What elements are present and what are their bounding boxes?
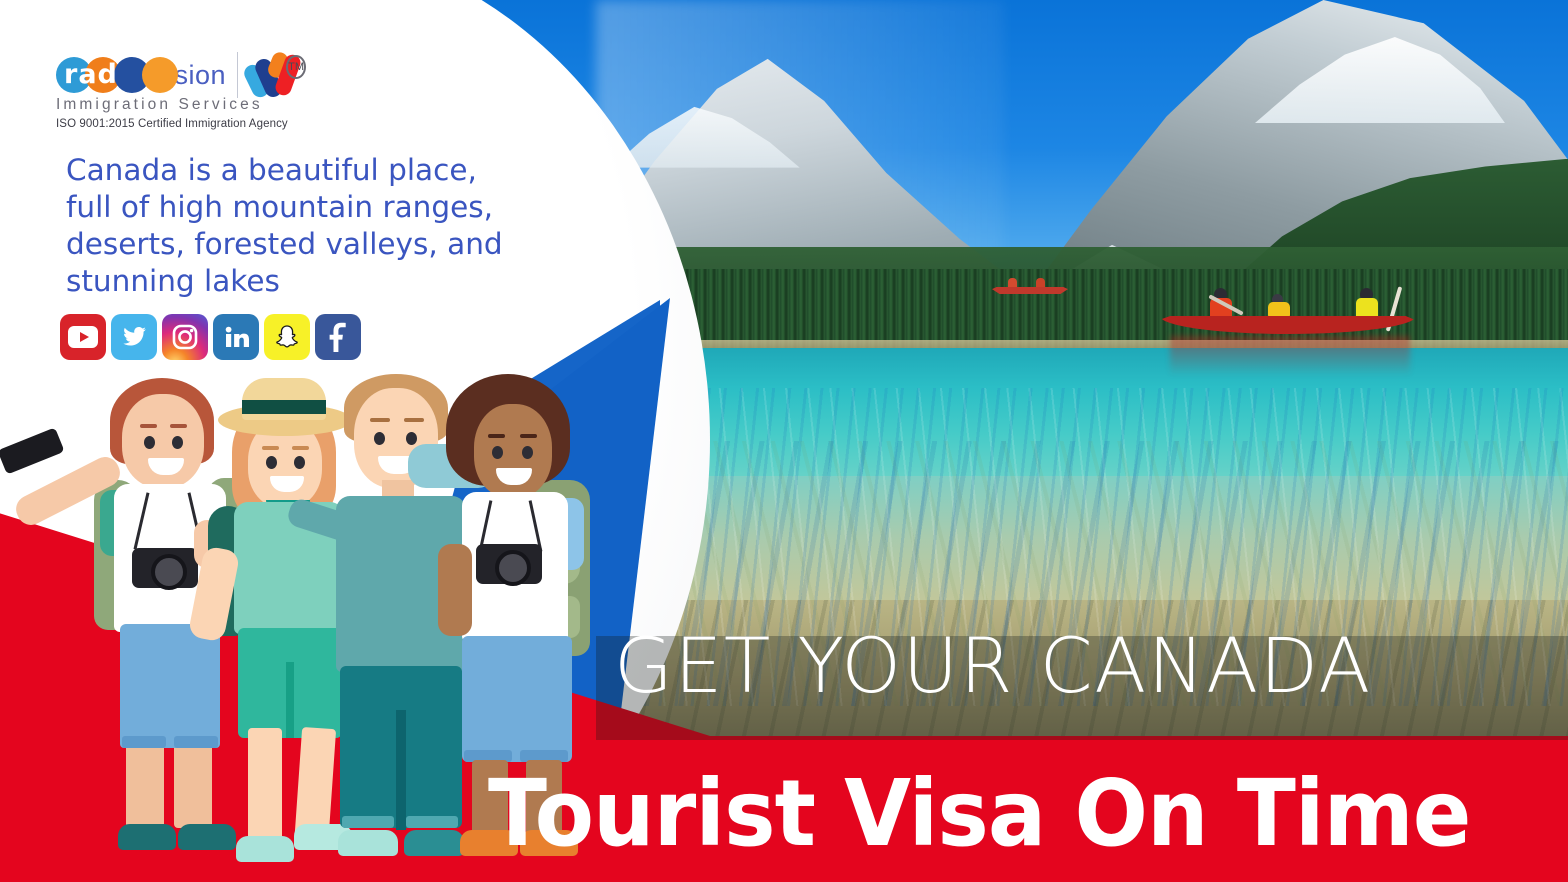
- logo-services-text: Immigration Services: [56, 96, 263, 114]
- logo-rad-text: rad: [64, 62, 118, 88]
- youtube-icon[interactable]: [60, 314, 106, 360]
- paddler-child: [1268, 294, 1290, 316]
- phone-icon: [0, 427, 65, 474]
- headline-text: Tourist Visa On Time: [488, 762, 1513, 866]
- snapchat-icon[interactable]: [264, 314, 310, 360]
- instagram-icon[interactable]: [162, 314, 208, 360]
- camera-icon: [476, 544, 542, 584]
- kicker-container: GET YOUR CANADA: [614, 624, 1568, 708]
- logo-divider: [237, 52, 238, 98]
- headline-container: Tourist Visa On Time: [488, 762, 1568, 866]
- canoe-distant: [992, 280, 1068, 294]
- iso-certification-text: ISO 9001:2015 Certified Immigration Agen…: [56, 118, 306, 130]
- facebook-icon[interactable]: [315, 314, 361, 360]
- twitter-icon[interactable]: [111, 314, 157, 360]
- social-links: [60, 314, 361, 360]
- canoe-hull: [1160, 316, 1416, 334]
- promo-banner: rad vision TM Immigration Services ISO 9…: [0, 0, 1568, 882]
- canoe-red: [1160, 300, 1416, 334]
- tagline-line-1: Canada is a beautiful place,: [66, 152, 536, 189]
- tagline-line-3: deserts, forested valleys, and: [66, 226, 536, 263]
- kicker-text: GET YOUR CANADA: [614, 624, 1568, 708]
- canoe-reflection: [1170, 336, 1410, 376]
- tagline-line-2: full of high mountain ranges,: [66, 189, 536, 226]
- paddler-rear: [1356, 288, 1378, 318]
- tagline-text: Canada is a beautiful place, full of hig…: [66, 152, 536, 300]
- v-monogram-icon: [247, 52, 282, 98]
- trademark-icon: TM: [286, 55, 306, 79]
- linkedin-icon[interactable]: [213, 314, 259, 360]
- company-logo[interactable]: rad vision TM Immigration Services ISO 9…: [56, 52, 306, 130]
- tagline-line-4: stunning lakes: [66, 263, 536, 300]
- rad-wordmark: rad: [56, 55, 146, 95]
- camera-icon: [132, 548, 198, 588]
